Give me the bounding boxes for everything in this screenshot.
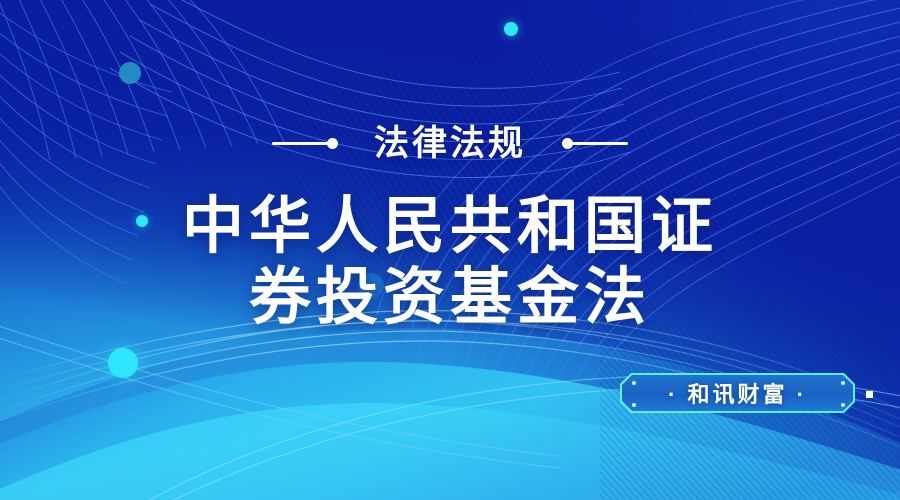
legal-regulation-banner: 法律法规 中华人民共和国证 券投资基金法 · 和讯财富 ·: [0, 0, 900, 500]
brand-badge-label: · 和讯财富 ·: [668, 377, 807, 409]
badge-pin-bottom-left: [632, 403, 636, 407]
decoration-line-left: [272, 142, 328, 145]
line-dot-decoration-left: [272, 138, 338, 149]
brand-badge[interactable]: · 和讯财富 ·: [622, 375, 853, 411]
decoration-line-right: [572, 142, 628, 145]
page-title: 中华人民共和国证 券投资基金法: [0, 192, 900, 333]
title-line-1: 中华人民共和国证: [0, 192, 900, 263]
badge-pin-bottom-right: [841, 403, 845, 407]
cyan-circle-lower-left-icon: [108, 348, 138, 378]
dot-line-decoration-right: [562, 138, 628, 149]
kicker-label: 法律法规: [374, 126, 526, 161]
decoration-dot-left: [327, 138, 338, 149]
white-square-marker: [866, 391, 873, 398]
teal-circle-top-left-icon: [119, 62, 141, 84]
badge-pin-top-left: [632, 381, 636, 385]
title-line-2: 券投资基金法: [0, 263, 900, 334]
badge-pin-top-right: [841, 381, 845, 385]
kicker-row: 法律法规: [0, 112, 900, 174]
cyan-dot-top-center-icon: [504, 22, 518, 36]
